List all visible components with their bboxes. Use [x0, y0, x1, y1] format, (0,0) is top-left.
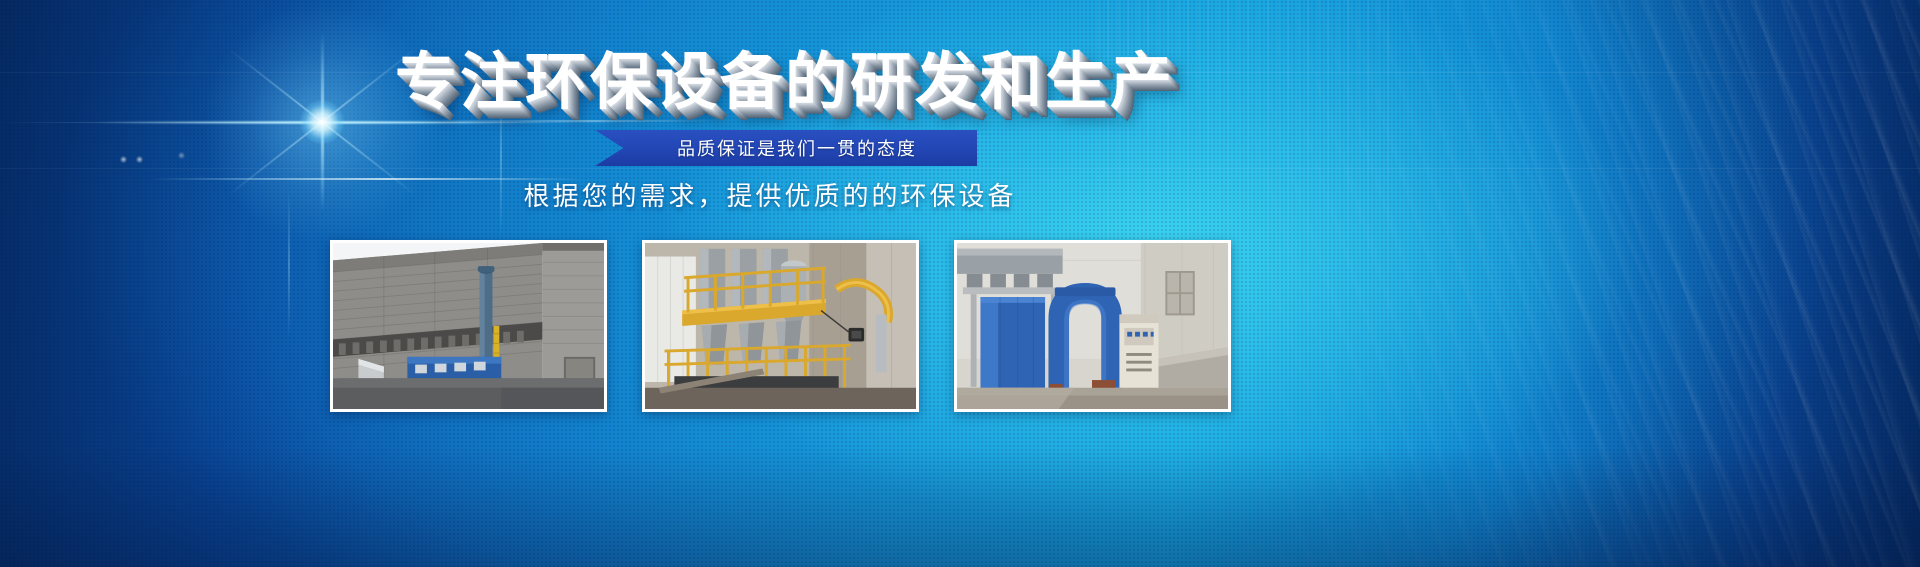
photo-workshop-blue-dust-collector[interactable]	[954, 240, 1231, 412]
hero-banner: 专注环保设备的研发和生产 品质保证是我们一贯的态度 根据您的需求，提供优质的的环…	[0, 0, 1920, 567]
page-subtitle: 根据您的需求，提供优质的的环保设备	[0, 176, 1540, 213]
factory-exterior-image	[333, 243, 604, 409]
photo-strip	[330, 240, 1231, 412]
page-title: 专注环保设备的研发和生产	[0, 52, 1570, 114]
banner-content: 专注环保设备的研发和生产 品质保证是我们一贯的态度 根据您的需求，提供优质的的环…	[0, 0, 1920, 567]
quality-badge-label: 品质保证是我们一贯的态度	[655, 135, 917, 161]
indoor-platform-image	[645, 243, 916, 409]
photo-factory-exterior-dust-collector[interactable]	[330, 240, 607, 412]
photo-indoor-dust-collection-platform[interactable]	[642, 240, 919, 412]
workshop-collector-image	[957, 243, 1228, 409]
quality-badge: 品质保证是我们一贯的态度	[595, 130, 977, 166]
